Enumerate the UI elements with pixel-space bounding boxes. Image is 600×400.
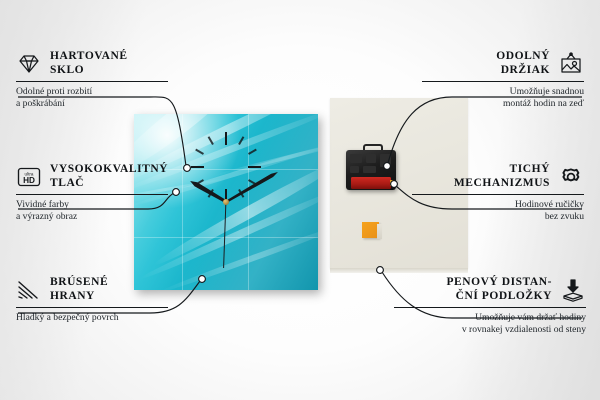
- feature-title-line2: MECHANIZMUS: [454, 177, 550, 191]
- feature-ground-edges: BRÚSENÉ HRANY Hladký a bezpečný povrch: [16, 276, 186, 324]
- feature-heading: ODOLNÝ DRŽIAK: [414, 50, 584, 77]
- feature-title-line2: HRANY: [50, 290, 108, 304]
- feature-title-line2: ČNÍ PODLOŽKY: [446, 290, 552, 304]
- feature-title-line1: TICHÝ: [454, 163, 550, 177]
- feature-heading: TICHÝ MECHANIZMUS: [404, 163, 584, 190]
- feature-divider: [16, 194, 168, 195]
- feature-durable-mount: ODOLNÝ DRŽIAK Umožňuje snadnou montáž ho…: [414, 50, 584, 109]
- feature-subtext-line1: Hodinové ručičky: [404, 199, 584, 211]
- feature-subtext-line2: a poškrábání: [16, 98, 176, 110]
- diamond-icon: [16, 52, 42, 76]
- feature-title-line2: DRŽIAK: [496, 64, 550, 78]
- feature-title-line1: ODOLNÝ: [496, 50, 550, 64]
- feature-title: VYSOKOKVALITNÝ TLAČ: [50, 163, 168, 190]
- feature-title: BRÚSENÉ HRANY: [50, 276, 108, 303]
- feature-subtext-line1: Umožňuje vám držať hodiny: [386, 312, 586, 324]
- feature-divider: [412, 194, 584, 195]
- feature-heading: HARTOVANÉ SKLO: [16, 50, 176, 77]
- feature-foam-spacers: PENOVÝ DISTAN- ČNÍ PODLOŽKY Umožňuje vám…: [386, 276, 586, 335]
- feature-divider: [422, 81, 584, 82]
- ground-edges-icon: [16, 278, 42, 302]
- feature-silent-mechanism: TICHÝ MECHANIZMUS Hodinové ručičky bez z…: [404, 163, 584, 222]
- feature-subtext-line1: Odolné proti rozbití: [16, 86, 176, 98]
- feature-title-line1: BRÚSENÉ: [50, 276, 108, 290]
- feature-subtext-line2: a výrazný obraz: [16, 211, 176, 223]
- foam-spacer-icon: [560, 278, 586, 302]
- gear-icon: [558, 165, 584, 189]
- feature-tempered-glass: HARTOVANÉ SKLO Odolné proti rozbití a po…: [16, 50, 176, 109]
- feature-subtext-line2: montáž hodin na zeď: [414, 98, 584, 110]
- feature-divider: [16, 81, 168, 82]
- ultra-hd-badge-icon: ultra HD: [16, 165, 42, 189]
- feature-subtext-line1: Hladký a bezpečný povrch: [16, 312, 186, 324]
- feature-heading: BRÚSENÉ HRANY: [16, 276, 186, 303]
- feature-title: HARTOVANÉ SKLO: [50, 50, 128, 77]
- feature-heading: ultra HD VYSOKOKVALITNÝ TLAČ: [16, 163, 176, 190]
- feature-title-line2: SKLO: [50, 64, 128, 78]
- feature-title-line1: HARTOVANÉ: [50, 50, 128, 64]
- feature-divider: [16, 307, 168, 308]
- infographic-canvas: HARTOVANÉ SKLO Odolné proti rozbití a po…: [0, 0, 600, 400]
- feature-title: PENOVÝ DISTAN- ČNÍ PODLOŽKY: [446, 276, 552, 303]
- feature-title-line1: VYSOKOKVALITNÝ: [50, 163, 168, 177]
- feature-heading: PENOVÝ DISTAN- ČNÍ PODLOŽKY: [386, 276, 586, 303]
- feature-subtext-line2: v rovnakej vzdialenosti od steny: [386, 324, 586, 336]
- feature-title: ODOLNÝ DRŽIAK: [496, 50, 550, 77]
- feature-high-quality-print: ultra HD VYSOKOKVALITNÝ TLAČ Vividné far…: [16, 163, 176, 222]
- feature-title-line2: TLAČ: [50, 177, 168, 191]
- svg-text:HD: HD: [23, 176, 35, 185]
- feature-title: TICHÝ MECHANIZMUS: [454, 163, 550, 190]
- feature-subtext-line1: Vividné farby: [16, 199, 176, 211]
- feature-title-line1: PENOVÝ DISTAN-: [446, 276, 552, 290]
- wall-mount-picture-icon: [558, 52, 584, 76]
- feature-divider: [394, 307, 586, 308]
- feature-subtext-line1: Umožňuje snadnou: [414, 86, 584, 98]
- feature-subtext-line2: bez zvuku: [404, 211, 584, 223]
